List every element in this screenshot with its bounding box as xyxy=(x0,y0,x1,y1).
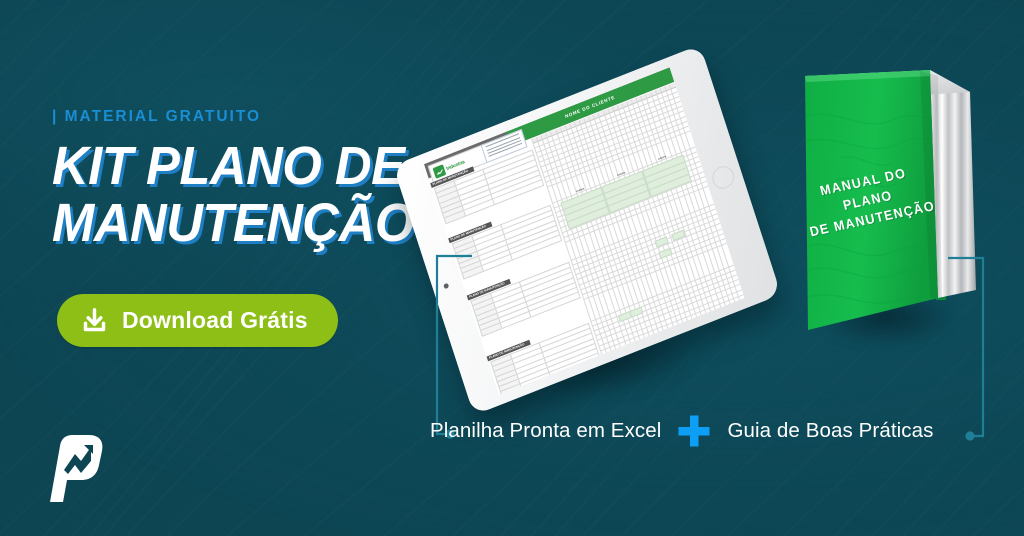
headline-line-1: KIT PLANO DE xyxy=(52,140,428,193)
plus-icon xyxy=(677,414,711,448)
caption-right-text: Guia de Boas Práticas xyxy=(727,419,933,443)
hero-text-block: | MATERIAL GRATUITO KIT PLANO DE MANUTEN… xyxy=(52,108,452,250)
p-growth-arrow-logo xyxy=(44,432,106,504)
caption-left-text: Planilha Pronta em Excel xyxy=(430,419,661,443)
download-button-label: Download Grátis xyxy=(122,307,308,334)
download-button[interactable]: Download Grátis xyxy=(57,294,338,347)
book-mockup: MANUAL DO PLANO DE MANUTENÇÃO xyxy=(780,48,1000,348)
eyebrow-label: | MATERIAL GRATUITO xyxy=(52,108,452,126)
tablet-mockup: NOME DO CLIENTE Industria PLANO DE MANUT… xyxy=(414,95,774,380)
page-title: KIT PLANO DE MANUTENÇÃO xyxy=(52,140,428,250)
download-icon xyxy=(81,307,108,334)
caption-row: Planilha Pronta em Excel Guia de Boas Pr… xyxy=(430,414,934,448)
book-3d xyxy=(780,48,1000,348)
headline-line-2: MANUTENÇÃO xyxy=(52,197,428,250)
